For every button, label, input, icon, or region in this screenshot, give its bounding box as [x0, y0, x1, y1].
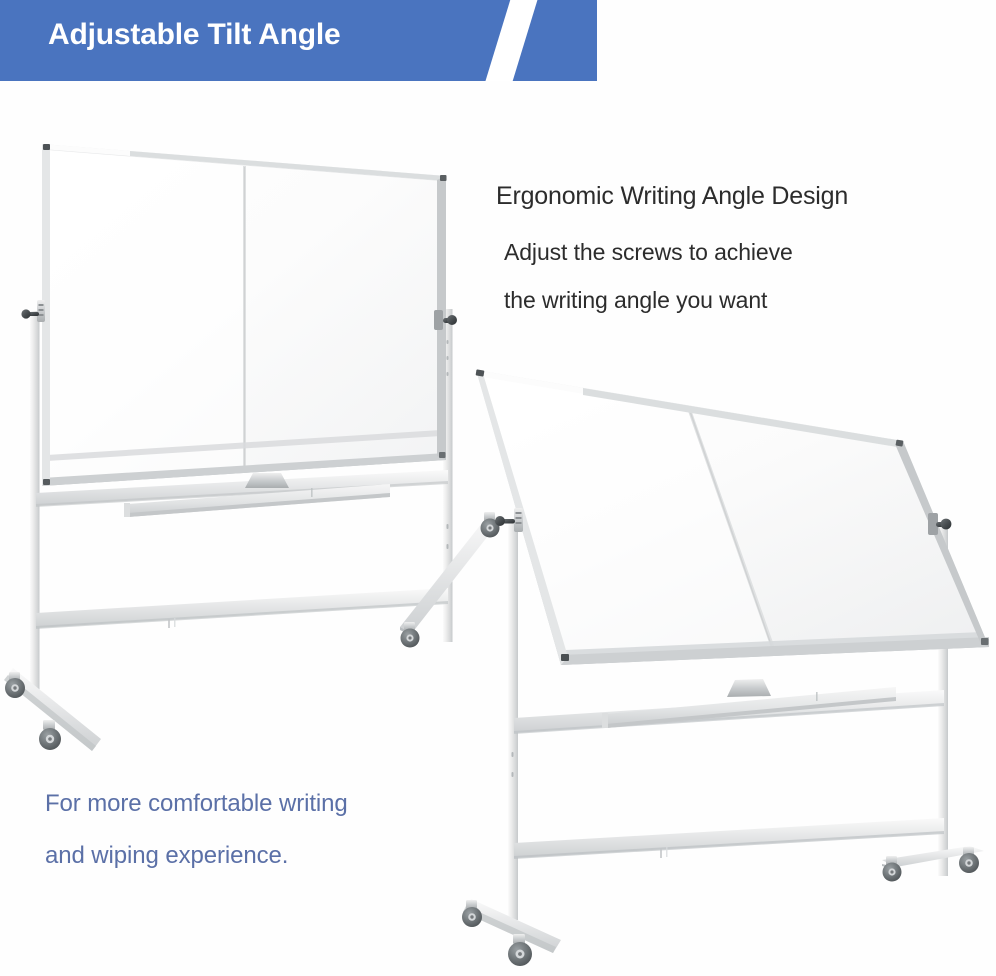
feature-right-copy: Ergonomic Writing Angle Design Adjust th…	[496, 183, 996, 312]
header-banner: Adjustable Tilt Angle	[0, 0, 597, 81]
feature-subtext-line: Adjust the screws to achieve	[496, 241, 996, 264]
feature-headline: Ergonomic Writing Angle Design	[496, 183, 996, 211]
caster-wheel	[481, 512, 500, 538]
feature-bottom-line: For more comfortable writing	[45, 792, 515, 816]
right-board-surface	[476, 369, 989, 665]
feature-subtext: Adjust the screws to achieve the writing…	[496, 241, 996, 312]
feature-bottom-copy: For more comfortable writing and wiping …	[45, 792, 515, 868]
feature-subtext-line: the writing angle you want	[496, 289, 996, 312]
caster-wheel	[39, 720, 61, 750]
diagonal-slash-icon	[482, 0, 540, 81]
feature-bottom-line: and wiping experience.	[45, 844, 515, 868]
right-board-marker-tray	[602, 679, 896, 728]
left-board-surface	[42, 144, 447, 486]
banner-title: Adjustable Tilt Angle	[48, 18, 341, 52]
